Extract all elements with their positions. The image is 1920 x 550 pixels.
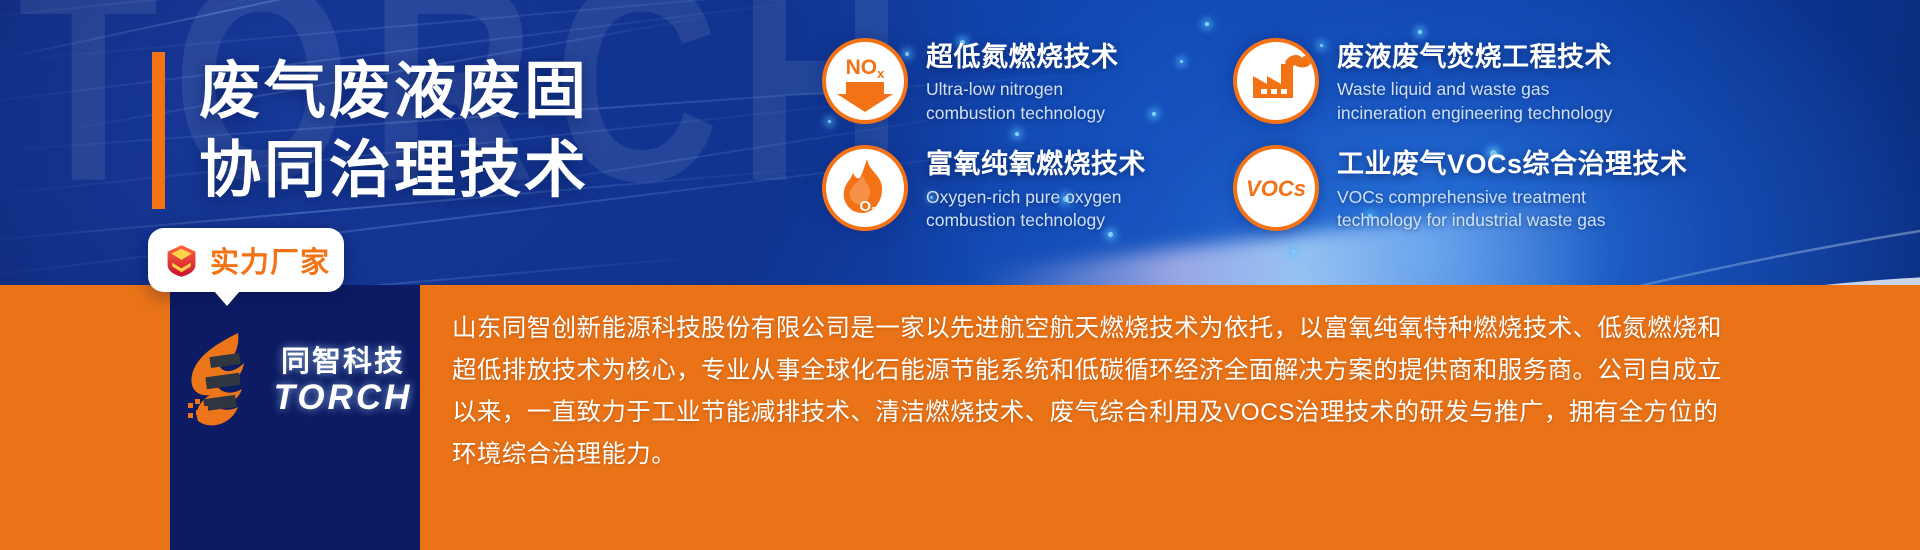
shield-icon xyxy=(162,239,201,281)
description-line: 超低排放技术为核心，专业从事全球化石能源节能系统和低碳循环经济全面解决方案的提供… xyxy=(452,350,1777,392)
promo-banner: TORCH xyxy=(0,0,1920,550)
feature-title: 工业废气VOCs综合治理技术 xyxy=(1337,148,1688,180)
title-line-2: 协同治理技术 xyxy=(199,131,589,210)
feature-item-nox: NOx 超低氮燃烧技术 Ultra-low nitrogen combustio… xyxy=(822,38,1207,125)
flame-o2-icon: O2 xyxy=(822,145,908,231)
description-line: 以来，一直致力于工业节能减排技术、清洁燃烧技术、废气综合利用及VOCS治理技术的… xyxy=(452,392,1777,434)
vocs-icon: VOCs xyxy=(1233,145,1319,231)
feature-title: 富氧纯氧燃烧技术 xyxy=(926,148,1146,180)
description-line: 环境综合治理能力。 xyxy=(452,434,1777,476)
badge-pointer xyxy=(214,291,240,306)
feature-subtitle-line: Oxygen-rich pure oxygen xyxy=(926,186,1146,209)
feature-title: 废液废气焚烧工程技术 xyxy=(1337,41,1612,73)
logo-chinese-name: 同智科技 xyxy=(281,348,405,377)
banner-title: 废气废液废固 协同治理技术 xyxy=(152,52,589,211)
svg-text:NOx: NOx xyxy=(846,56,886,81)
feature-title: 超低氮燃烧技术 xyxy=(926,41,1119,73)
svg-text:VOCs: VOCs xyxy=(1246,176,1306,201)
strength-manufacturer-badge: 实力厂家 xyxy=(148,228,344,292)
description-line: 山东同智创新能源科技股份有限公司是一家以先进航空航天燃烧技术为依托，以富氧纯氧特… xyxy=(452,308,1777,350)
title-line-1: 废气废液废固 xyxy=(199,52,589,131)
logo-panel: 同智科技 TORCH xyxy=(170,285,420,550)
feature-subtitle-line: combustion technology xyxy=(926,209,1146,232)
company-description: 山东同智创新能源科技股份有限公司是一家以先进航空航天燃烧技术为依托，以富氧纯氧特… xyxy=(452,308,1777,477)
title-accent-bar xyxy=(152,52,165,209)
feature-list: NOx 超低氮燃烧技术 Ultra-low nitrogen combustio… xyxy=(822,38,1663,233)
factory-icon xyxy=(1233,38,1319,124)
logo-english-name: TORCH xyxy=(274,380,413,415)
nox-down-arrow-icon: NOx xyxy=(822,38,908,124)
feature-subtitle-line: Waste liquid and waste gas xyxy=(1337,78,1612,101)
feature-subtitle-line: Ultra-low nitrogen xyxy=(926,78,1119,101)
feature-item-oxygen: O2 富氧纯氧燃烧技术 Oxygen-rich pure oxygen comb… xyxy=(822,145,1207,232)
badge-label: 实力厂家 xyxy=(210,239,330,281)
feature-item-vocs: VOCs 工业废气VOCs综合治理技术 VOCs comprehensive t… xyxy=(1233,145,1663,232)
feature-subtitle-line: incineration engineering technology xyxy=(1337,102,1612,125)
feature-item-incineration: 废液废气焚烧工程技术 Waste liquid and waste gas in… xyxy=(1233,38,1663,125)
feature-subtitle-line: combustion technology xyxy=(926,102,1119,125)
feature-subtitle-line: technology for industrial waste gas xyxy=(1337,209,1688,232)
torch-flame-logo-icon xyxy=(178,327,264,435)
feature-subtitle-line: VOCs comprehensive treatment xyxy=(1337,186,1688,209)
